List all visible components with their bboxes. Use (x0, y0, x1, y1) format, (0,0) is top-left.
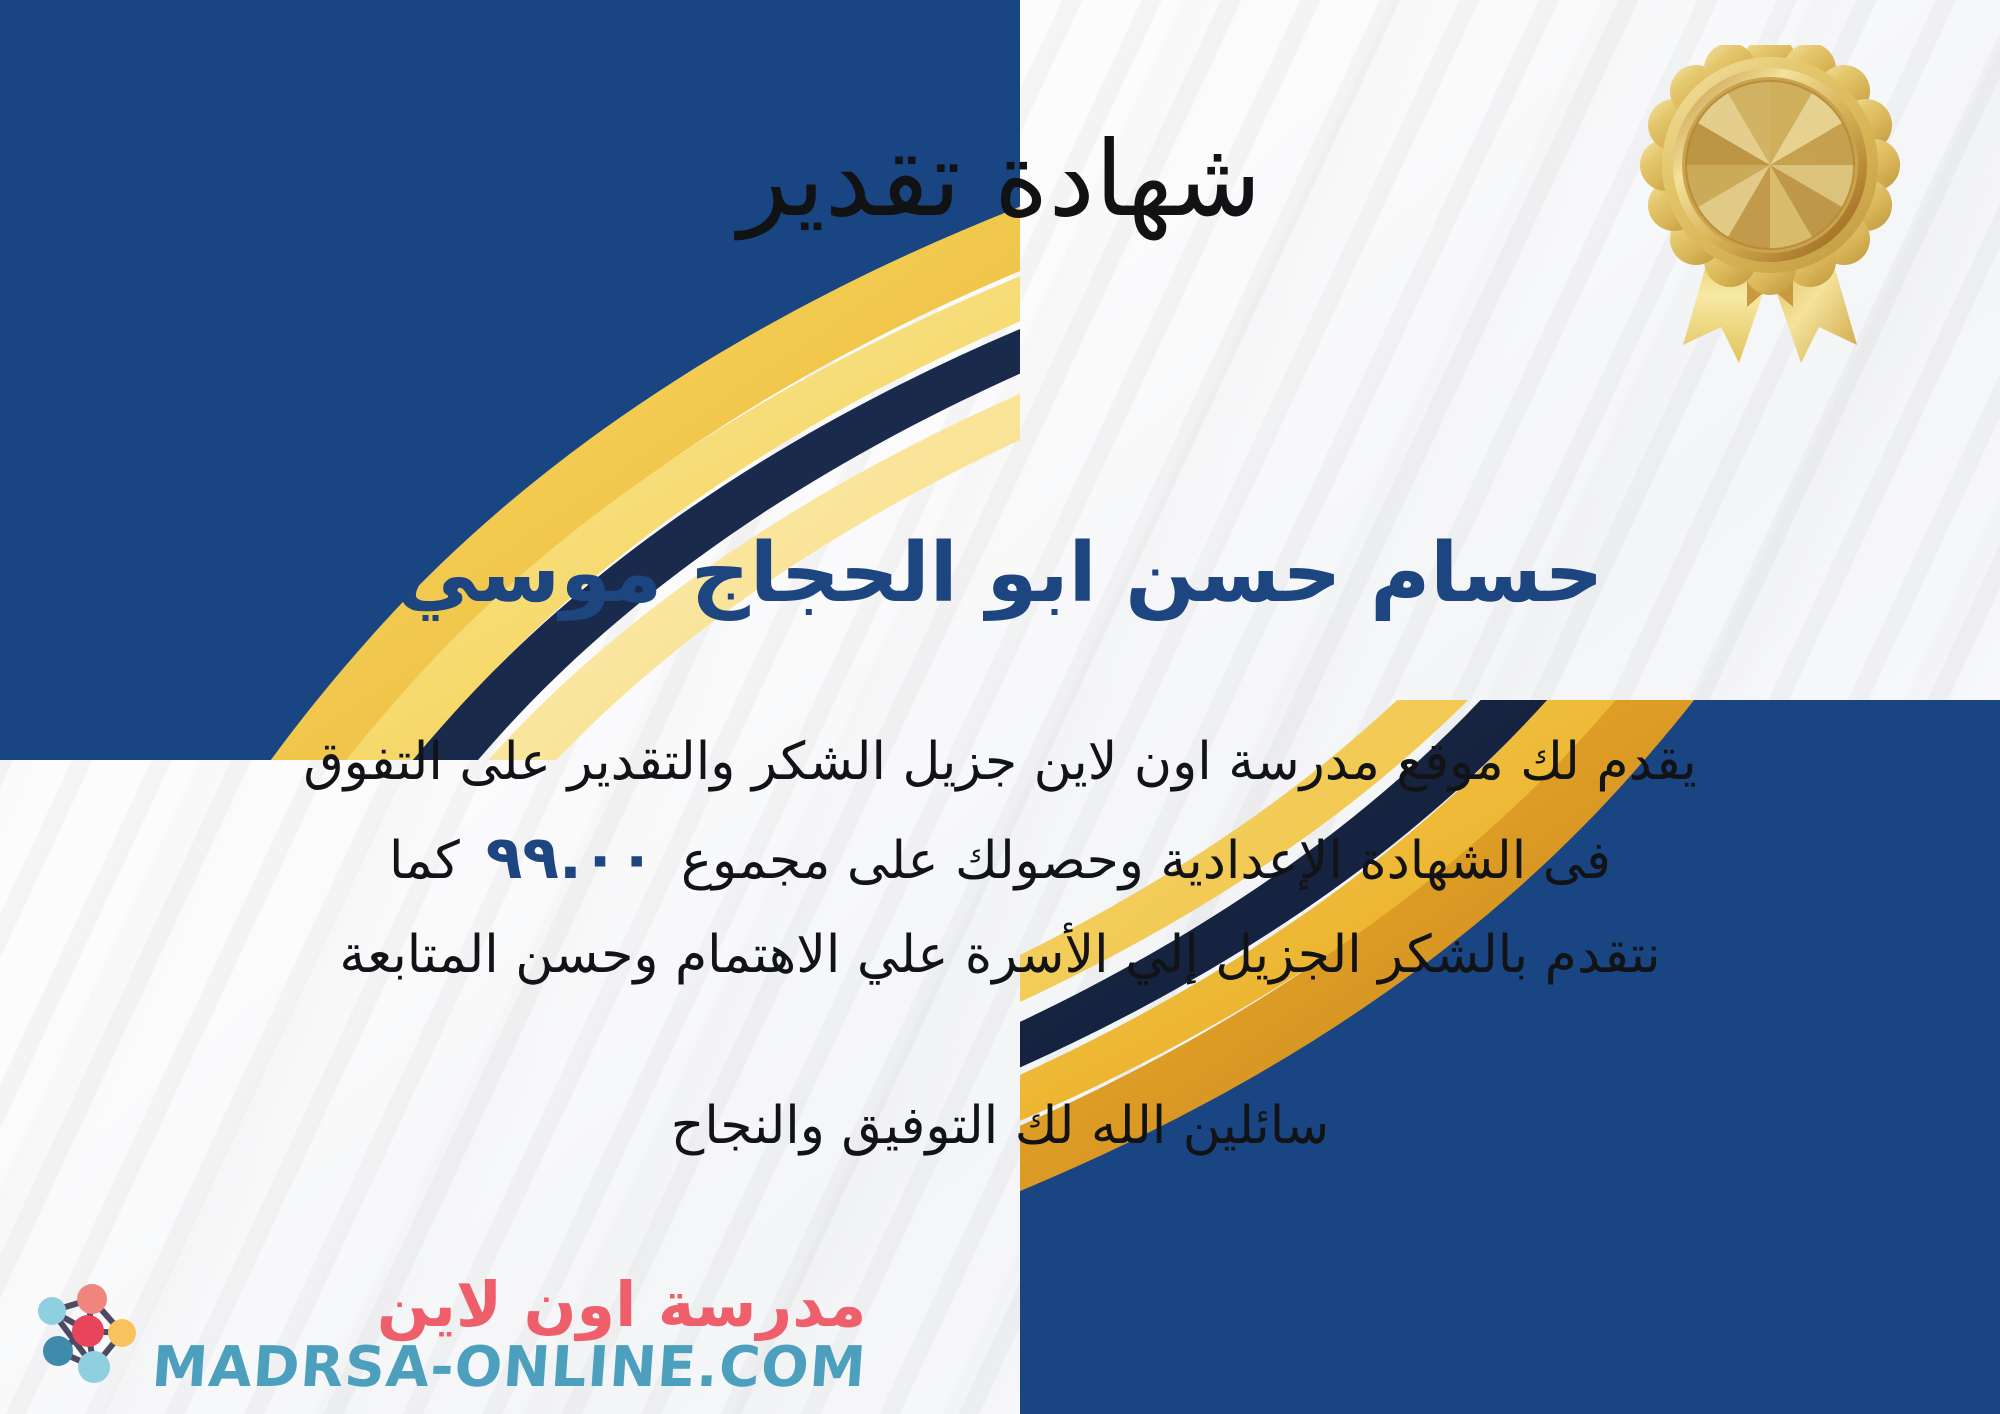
body-line-2-prefix: فى الشهادة الإعدادية وحصولك على مجموع (681, 831, 1611, 891)
brand-logo[interactable]: مدرسة اون لاين MADRSA-ONLINE.COM (22, 1274, 866, 1396)
network-nodes-icon (22, 1275, 142, 1395)
certificate-body: يقدم لك موقع مدرسة اون لاين جزيل الشكر و… (60, 718, 1940, 1000)
body-line-3: نتقدم بالشكر الجزيل إلي الأسرة علي الاهت… (60, 911, 1940, 1000)
body-line-1: يقدم لك موقع مدرسة اون لاين جزيل الشكر و… (60, 718, 1940, 807)
gold-rosette-award-icon (1635, 45, 1905, 375)
body-line-2: فى الشهادة الإعدادية وحصولك على مجموع٩٩.… (60, 807, 1940, 910)
recipient-name: حسام حسن ابو الحجاج موسي (120, 520, 1880, 628)
brand-website-url[interactable]: MADRSA-ONLINE.COM (150, 1340, 868, 1396)
score-value: ٩٩.٠٠ (460, 823, 681, 893)
brand-arabic-name: مدرسة اون لاين (377, 1274, 867, 1336)
body-line-2-suffix: كما (389, 831, 460, 891)
certificate-canvas: شهادة تقدير حسام حسن ابو الحجاج موسي يقد… (0, 0, 2000, 1414)
closing-line: سائلين الله لك التوفيق والنجاح (60, 1085, 1940, 1168)
